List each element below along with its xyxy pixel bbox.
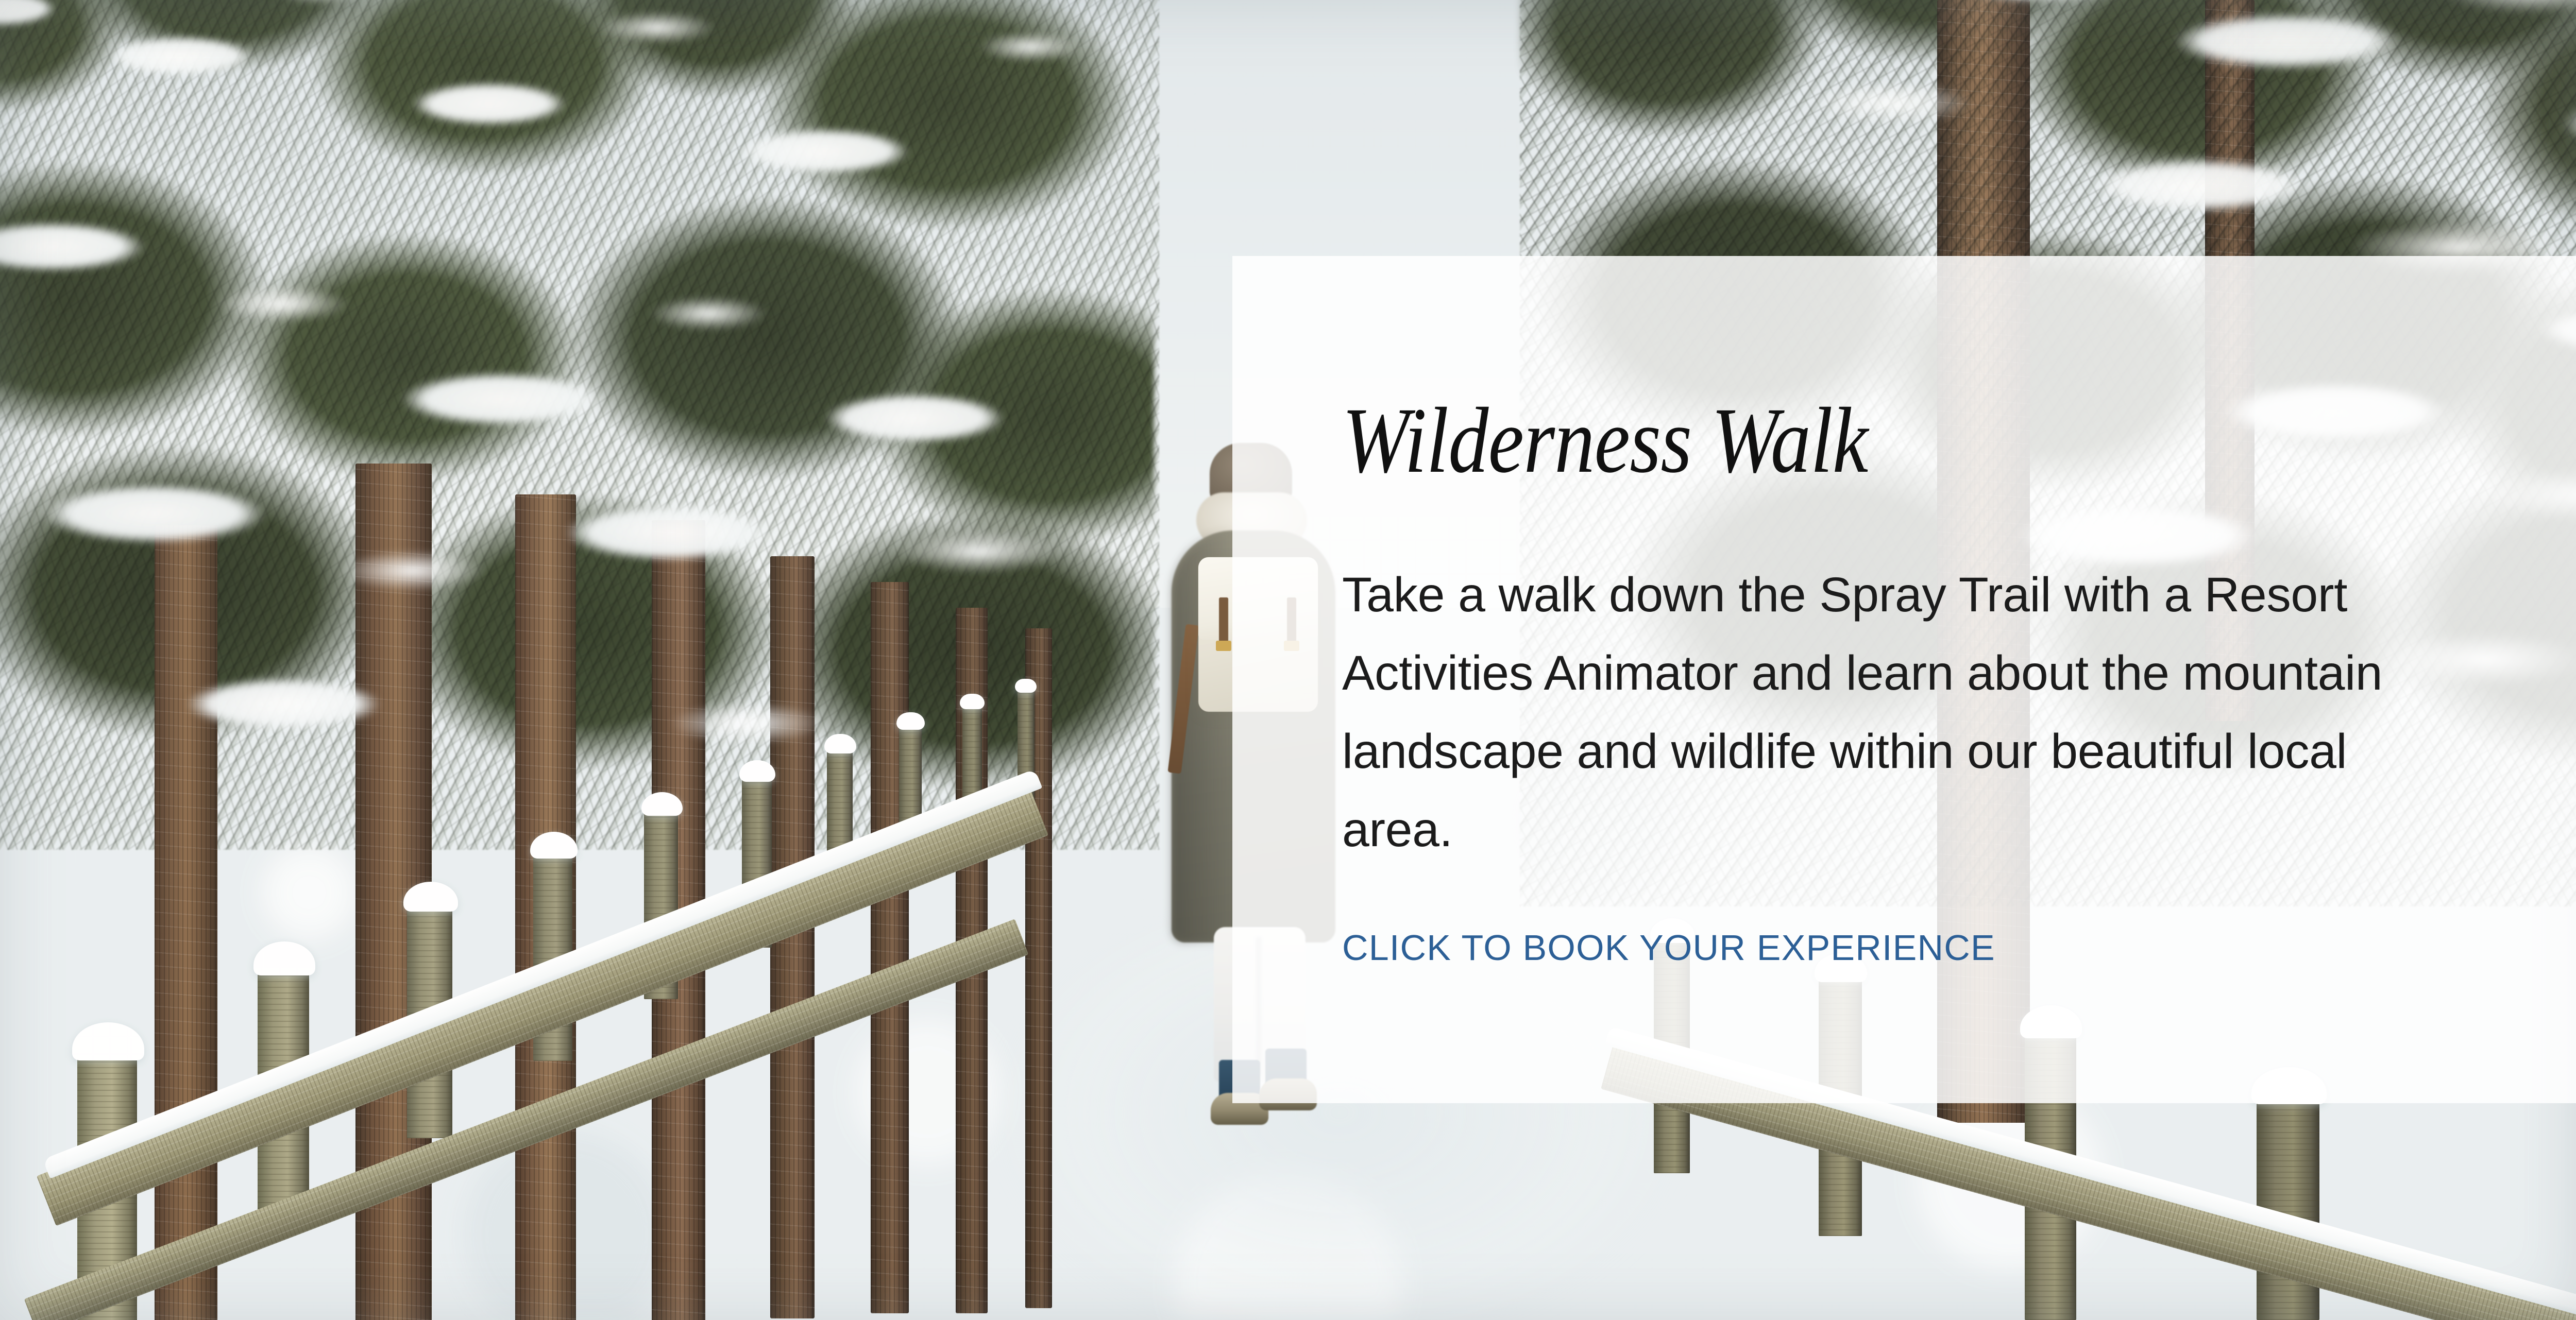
- backpack-buckle: [1216, 641, 1231, 651]
- book-experience-link[interactable]: CLICK TO BOOK YOUR EXPERIENCE: [1342, 930, 1995, 966]
- fence-snow-cap: [896, 712, 925, 730]
- hero-banner: Wilderness Walk Take a walk down the Spr…: [0, 0, 2576, 1320]
- promo-title: Wilderness Walk: [1342, 394, 2319, 488]
- fence-snow-cap: [824, 734, 856, 753]
- fence-snow-cap: [1015, 679, 1037, 693]
- backpack-strap: [1219, 597, 1228, 647]
- fence-snow-cap: [960, 694, 985, 709]
- promo-card: Wilderness Walk Take a walk down the Spr…: [1232, 256, 2576, 1103]
- left-snow-clumps: [0, 0, 1185, 876]
- promo-description: Take a walk down the Spray Trail with a …: [1342, 556, 2465, 869]
